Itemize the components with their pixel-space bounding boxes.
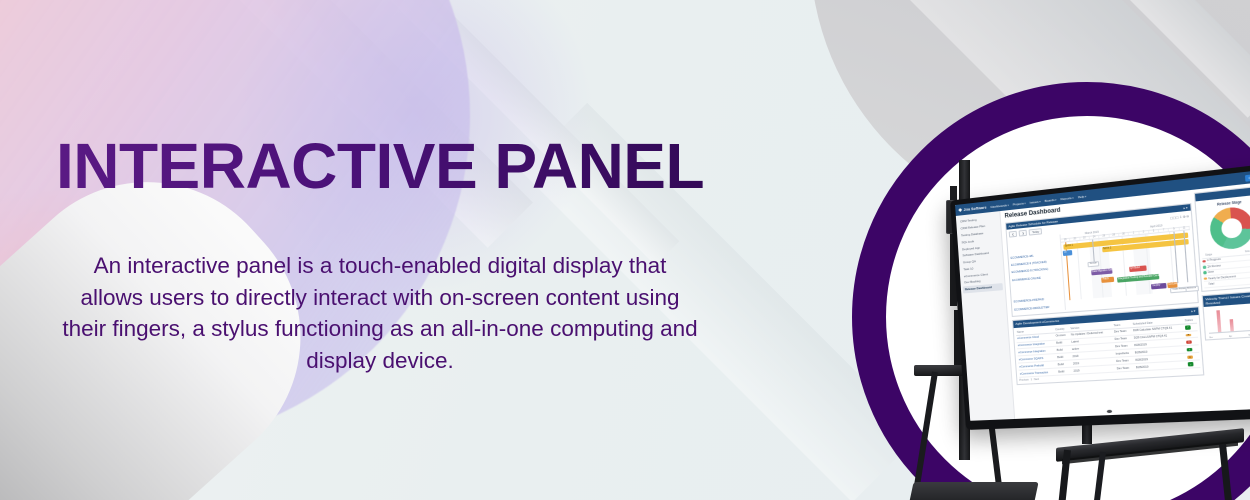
gantt-bar-patch[interactable]: Patch [1101, 277, 1114, 283]
legend-count: 3 [1244, 273, 1250, 277]
panel-indicator-led [1106, 410, 1112, 413]
cell-status: ✓ [1187, 360, 1201, 368]
gantt-bar-ui[interactable]: UI [1063, 250, 1072, 256]
gantt-plot-area: March 2019 April 2019 18 20 22 24 [1060, 222, 1196, 310]
nav-item-issues[interactable]: Issues [1029, 199, 1040, 204]
legend-count: 8 [1244, 267, 1250, 271]
legend-total-label: Total [1208, 280, 1244, 286]
donut-card-title-bar [1197, 195, 1198, 199]
release-stage-card: ▸▾ Release Stage Stage [1194, 185, 1250, 291]
description-text: An interactive panel is a touch-enabled … [60, 250, 700, 376]
nav-item-projects[interactable]: Projects [1013, 201, 1026, 207]
nav-item-dashboards[interactable]: Dashboards [990, 202, 1008, 208]
gantt-card-body: ❮ ❯ Today ▢▢▢ ⇩ ⊕ ⊖ ECOMMERCE-481 [1007, 211, 1198, 316]
gantt-grid: Sprint 1 Sprint 2 UI Kickoff Data Migrat… [1061, 230, 1194, 300]
create-button[interactable]: Create [1245, 173, 1250, 182]
donut-legend: Stage Issues % In Progress 8 [1202, 249, 1250, 289]
donut-chart-title: Release Stage [1217, 200, 1242, 207]
release-stage-donut-chart[interactable] [1208, 206, 1250, 252]
interactive-panel-banner: INTERACTIVE PANEL An interactive panel i… [0, 0, 1250, 500]
pagination-previous[interactable]: Previous [1019, 379, 1029, 383]
gantt-bar-deploy[interactable]: Deploy [1151, 283, 1166, 289]
nav-item-help[interactable]: Help [1078, 194, 1087, 199]
text-content-block: INTERACTIVE PANEL An interactive panel i… [0, 0, 760, 500]
legend-count: 8 [1243, 255, 1250, 259]
legend-swatch [1204, 277, 1207, 280]
spark-x-tick: Apr [1229, 336, 1233, 338]
panel-screen[interactable]: Jira Software Dashboards Projects Issues… [955, 170, 1250, 421]
page-title: INTERACTIVE PANEL [56, 134, 704, 198]
legend-count: 9 [1244, 261, 1250, 265]
legend-swatch [1203, 266, 1206, 269]
gantt-prev-button[interactable]: ❮ [1009, 231, 1018, 238]
gantt-card: Agile Release Schedule for Release ▸▾ ❮ … [1005, 202, 1199, 316]
gantt-chart: ECOMMERCE-481 ECOMMERCE-9 (TRACKER) ECOM… [1009, 222, 1195, 313]
sparkline-peak-1 [1216, 311, 1221, 333]
card-tools-icon[interactable]: ▸▾ [1183, 205, 1188, 210]
jira-body: CRM Testing CRM Release Plan Testing Dat… [956, 182, 1250, 421]
pagination-next[interactable]: Next [1034, 378, 1039, 381]
pagination-page-1[interactable]: 1 [1031, 379, 1033, 382]
gantt-next-button[interactable]: ❯ [1019, 230, 1028, 237]
jira-diamond-icon [958, 208, 962, 212]
gantt-milestone-release[interactable]: Release [1185, 286, 1199, 292]
legend-swatch [1203, 271, 1206, 274]
gantt-row-labels: ECOMMERCE-481 ECOMMERCE-9 (TRACKER) ECOM… [1009, 235, 1065, 313]
legend-swatch [1202, 260, 1205, 263]
table-card-body: Name Country Version Team Scheduled Date… [1014, 315, 1204, 385]
jira-main-column: Release Dashboard Agile Release Schedule… [1000, 190, 1210, 419]
jira-app-name: Jira Software [963, 205, 986, 212]
sparkline-chart[interactable]: Mar Apr May Jun [1204, 303, 1250, 340]
velocity-trend-card: Velocity Trend / Issues Created vs Resol… [1202, 289, 1250, 341]
jira-logo[interactable]: Jira Software [958, 205, 987, 212]
nav-item-boards[interactable]: Boards [1044, 197, 1056, 202]
card-tools-icon[interactable]: ▸▾ [1191, 309, 1196, 314]
stand-leg-left [914, 372, 938, 489]
spark-x-tick: Mar [1209, 337, 1213, 339]
jira-application[interactable]: Jira Software Dashboards Projects Issues… [955, 170, 1250, 421]
device-photo: Jira Software Dashboards Projects Issues… [836, 150, 1250, 500]
gantt-today-button[interactable]: Today [1029, 228, 1042, 236]
sparkline-x-labels: Mar Apr May Jun [1209, 334, 1250, 340]
gantt-view-tools[interactable]: ▢▢▢ ⇩ ⊕ ⊖ [1170, 214, 1189, 220]
legend-total-count: 28 [1245, 279, 1250, 283]
cart-leg-right [1219, 444, 1233, 500]
gantt-milestone-kickoff[interactable]: Kickoff [1088, 261, 1099, 267]
interactive-display-panel[interactable]: Jira Software Dashboards Projects Issues… [950, 163, 1250, 430]
donut-card-body: Release Stage Stage Issues % [1196, 194, 1250, 290]
issues-table-card: Agile Development eCommerce ▸▾ Name C [1012, 306, 1204, 385]
nav-item-reports[interactable]: Reports [1060, 195, 1073, 201]
legend-col-issues: Issues [1244, 250, 1250, 254]
